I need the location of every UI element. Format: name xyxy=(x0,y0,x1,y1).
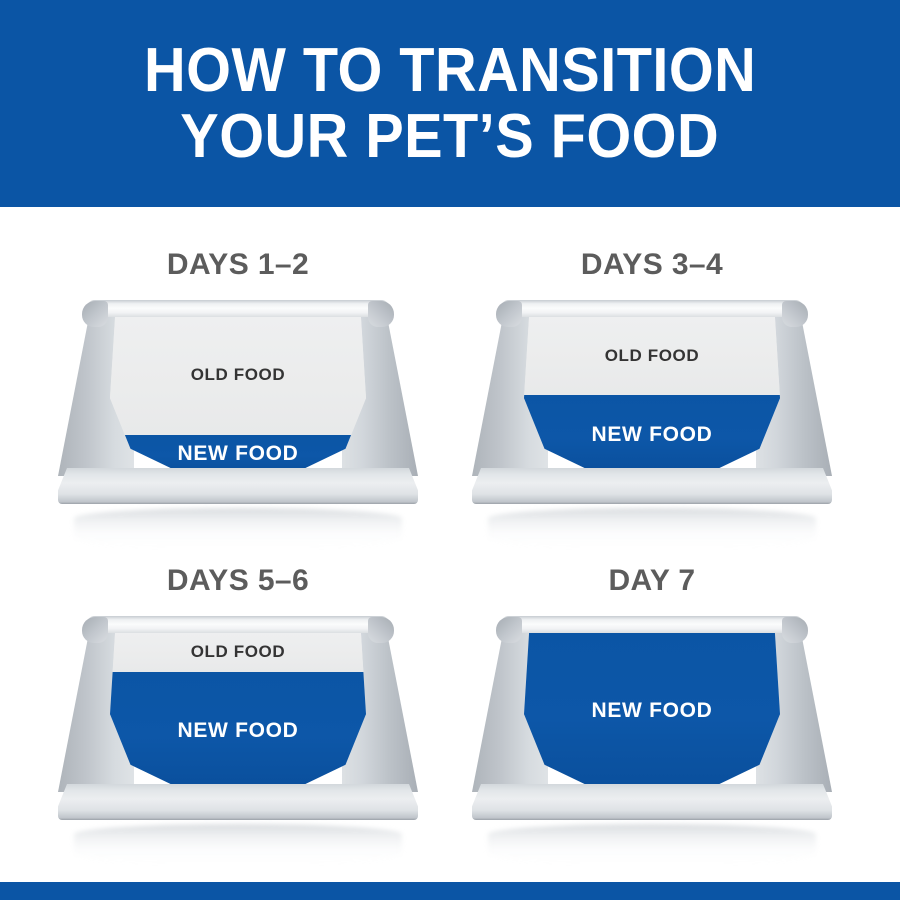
step-panel-day-7: DAY 7 NEW FOOD xyxy=(452,556,852,856)
bowl-rim xyxy=(86,300,390,317)
bowl-rim xyxy=(500,300,804,317)
new-food-label: NEW FOOD xyxy=(524,699,780,723)
old-food-label: OLD FOOD xyxy=(110,365,366,385)
bowl-rim-cap-left xyxy=(82,617,108,643)
new-food-label: NEW FOOD xyxy=(110,719,366,743)
bowl-rim-cap-right xyxy=(782,301,808,327)
header-banner: HOW TO TRANSITION YOUR PET’S FOOD xyxy=(0,0,900,207)
food-bowl: NEW FOOD xyxy=(472,616,832,831)
infographic-page: HOW TO TRANSITION YOUR PET’S FOOD DAYS 1… xyxy=(0,0,900,900)
new-food-fill: NEW FOOD xyxy=(524,632,780,790)
food-bowl: OLD FOOD NEW FOOD xyxy=(472,300,832,515)
bowl-cavity: OLD FOOD NEW FOOD xyxy=(110,316,366,474)
step-panel-days-1-2: DAYS 1–2 OLD FOOD NEW FOOD xyxy=(38,240,438,540)
bowl-reflection xyxy=(488,824,816,864)
bowl-cavity: NEW FOOD xyxy=(524,632,780,790)
bowl-rim-cap-left xyxy=(496,617,522,643)
step-title: DAYS 1–2 xyxy=(38,248,438,282)
header-title-line-2: YOUR PET’S FOOD xyxy=(181,105,720,168)
step-panel-days-5-6: DAYS 5–6 OLD FOOD NEW FOOD xyxy=(38,556,438,856)
bowl-base xyxy=(58,784,418,820)
old-food-fill: OLD FOOD xyxy=(110,316,366,435)
bowl-rim-cap-left xyxy=(496,301,522,327)
bowl-reflection xyxy=(74,824,402,864)
step-title: DAYS 3–4 xyxy=(452,248,852,282)
new-food-fill: NEW FOOD xyxy=(110,672,366,791)
bowl-rim xyxy=(86,616,390,633)
old-food-label: OLD FOOD xyxy=(524,346,780,366)
bowl-base xyxy=(472,468,832,504)
step-title: DAY 7 xyxy=(452,564,852,598)
old-food-label: OLD FOOD xyxy=(110,642,366,662)
new-food-label: NEW FOOD xyxy=(524,423,780,447)
bowl-base xyxy=(58,468,418,504)
bowl-reflection xyxy=(74,508,402,548)
bowl-cavity: OLD FOOD NEW FOOD xyxy=(110,632,366,790)
food-bowl: OLD FOOD NEW FOOD xyxy=(58,300,418,515)
old-food-fill: OLD FOOD xyxy=(524,316,780,395)
footer-bar xyxy=(0,882,900,900)
bowl-reflection xyxy=(488,508,816,548)
step-title: DAYS 5–6 xyxy=(38,564,438,598)
bowl-rim-cap-right xyxy=(368,617,394,643)
bowl-cavity: OLD FOOD NEW FOOD xyxy=(524,316,780,474)
header-title-line-1: HOW TO TRANSITION xyxy=(144,39,756,102)
bowl-rim-cap-right xyxy=(782,617,808,643)
bowl-rim-cap-left xyxy=(82,301,108,327)
step-panel-days-3-4: DAYS 3–4 OLD FOOD NEW FOOD xyxy=(452,240,852,540)
bowl-rim-cap-right xyxy=(368,301,394,327)
bowl-rim xyxy=(500,616,804,633)
food-bowl: OLD FOOD NEW FOOD xyxy=(58,616,418,831)
old-food-fill: OLD FOOD xyxy=(110,632,366,672)
bowl-base xyxy=(472,784,832,820)
